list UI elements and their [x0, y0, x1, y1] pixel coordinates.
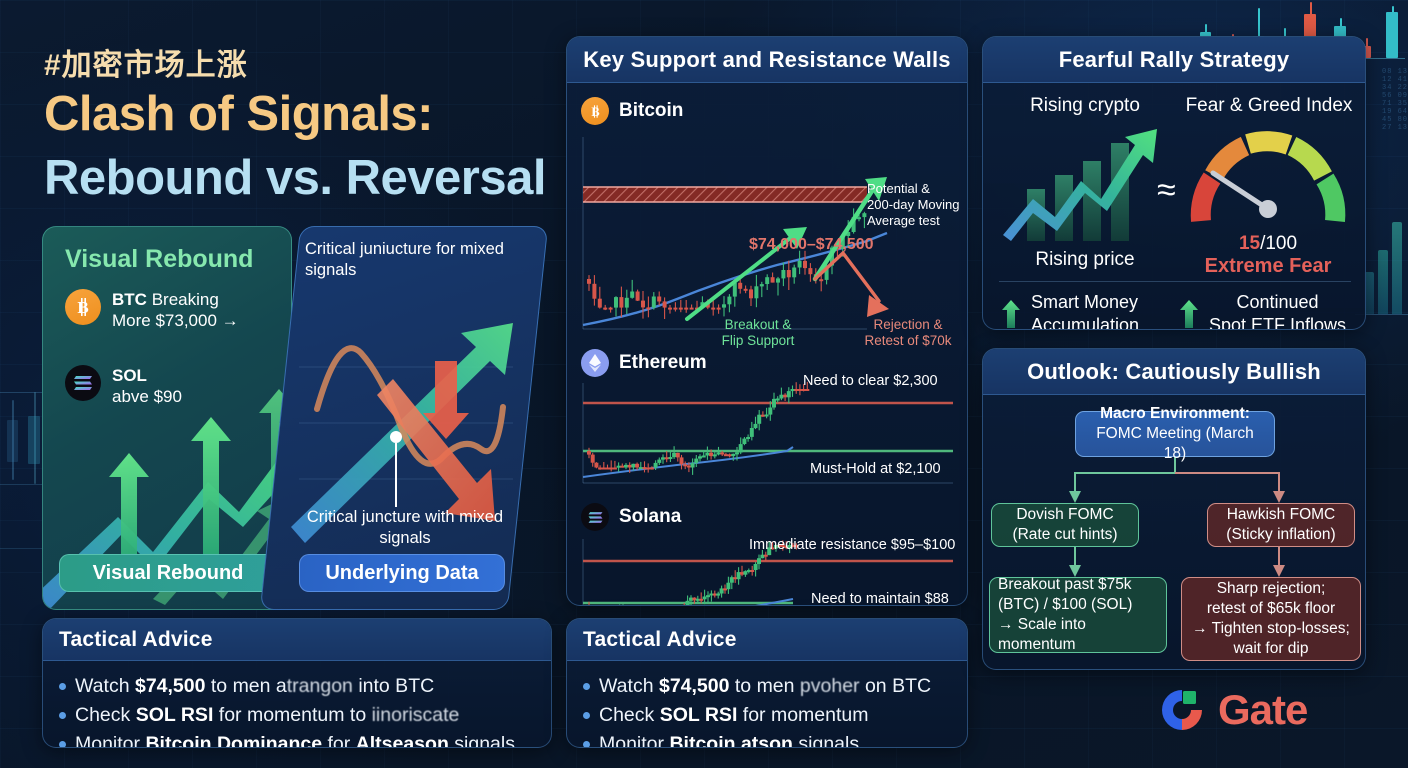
- macro-title: Macro Environment:: [1100, 404, 1250, 424]
- fear-greed-value: 15/100: [1179, 233, 1357, 255]
- advice-item: Monitor Bitcoin atson signals: [583, 731, 953, 748]
- bullet-line2: Spot ETF Inflows: [1209, 315, 1346, 330]
- gate-brand: Gate: [1158, 686, 1307, 734]
- flow-node-macro-environment: Macro Environment: FOMC Meeting (March 1…: [1075, 411, 1275, 457]
- fear-greed-gauge: [1179, 121, 1357, 231]
- rebound-coin-sol: SOL abve $90: [65, 365, 182, 407]
- bullet-dot-icon: [583, 712, 590, 719]
- dovish-result-l2: (BTC) / $100 (SOL): [998, 595, 1132, 615]
- rebound-coin-btc: B BTC Breaking More $73,000 →: [65, 289, 239, 331]
- advice-text: Monitor: [599, 733, 669, 748]
- bitcoin-annotation-right: Potential & 200-day Moving Average test: [867, 181, 967, 229]
- advice-text: signals: [793, 733, 859, 748]
- svg-text:B: B: [591, 105, 599, 119]
- dovish-result-l3: → Scale into momentum: [998, 615, 1158, 655]
- advice-text: on BTC: [860, 675, 932, 697]
- rebound-coin-sol-text: SOL abve $90: [112, 365, 182, 407]
- advice-bold: Bitcoin Dominance: [145, 733, 322, 748]
- advice-text: Check: [75, 704, 136, 726]
- fear-greed-state: Extreme Fear: [1179, 255, 1357, 278]
- dovish-result-l1: Breakout past $75k: [998, 575, 1132, 595]
- btc-symbol: BTC: [112, 290, 147, 309]
- advice-garbled: iinoriscate: [372, 704, 460, 726]
- dovish-title: Dovish FOMC: [1016, 505, 1113, 525]
- flow-node-hawkish-fomc: Hawkish FOMC (Sticky inflation): [1207, 503, 1355, 547]
- note-critical-juncture-top: Critical juniucture for mixed signals: [305, 239, 510, 281]
- hashtag-label: #加密市场上涨: [44, 40, 248, 84]
- flow-node-dovish-result: Breakout past $75k (BTC) / $100 (SOL) → …: [989, 577, 1167, 653]
- bullet-dot-icon: [59, 712, 66, 719]
- bitcoin-icon: B: [581, 97, 609, 125]
- dovish-sub: (Rate cut hints): [1012, 525, 1117, 545]
- advice-text: into BTC: [353, 675, 434, 697]
- solana-support-label: Need to maintain $88: [811, 591, 949, 606]
- btc-text1: Breaking: [152, 290, 219, 309]
- advice-item: Watch $74,500 to men pvoher on BTC: [583, 673, 953, 699]
- ethereum-support-label: Must-Hold at $2,100: [810, 461, 941, 477]
- advice-bold: Bitcoin atson: [669, 733, 793, 748]
- underlying-data-art: [281, 227, 529, 610]
- ethereum-label: Ethereum: [619, 352, 707, 374]
- macro-sub: FOMC Meeting (March 18): [1084, 424, 1266, 464]
- advice-text: for momentum to: [213, 704, 371, 726]
- chart-label-bitcoin: B Bitcoin: [581, 97, 683, 125]
- advice-bold: Altseason: [356, 733, 449, 748]
- hawkish-result-l4: wait for dip: [1234, 639, 1309, 659]
- fear-greed-index-label: Fear & Greed Index: [1179, 95, 1359, 117]
- rebound-coin-btc-text: BTC Breaking More $73,000 →: [112, 289, 239, 331]
- bitcoin-annotation-rejection: Rejection & Retest of $70k: [853, 317, 963, 349]
- flow-node-dovish-fomc: Dovish FOMC (Rate cut hints): [991, 503, 1139, 547]
- bitcoin-zone-label: $74,000–$74,500: [749, 237, 874, 253]
- svg-text:B: B: [77, 298, 88, 317]
- fear-bullet-etf-inflows: Continued Spot ETF Inflows: [1179, 291, 1346, 330]
- advice-bold: $74,500: [659, 675, 730, 697]
- ethereum-icon: [581, 349, 609, 377]
- solana-icon: [581, 503, 609, 531]
- underlying-data-card: Critical juniucture for mixed signals Cr…: [260, 226, 548, 610]
- bullet-line2: Accumulation: [1031, 315, 1139, 330]
- bullet-dot-icon: [583, 741, 590, 748]
- solana-icon: [65, 365, 101, 401]
- advice-bold: $74,500: [135, 675, 206, 697]
- gauge-value: 15: [1239, 233, 1260, 254]
- bullet-dot-icon: [59, 741, 66, 748]
- key-support-panel: Key Support and Resistance Walls B Bitco…: [566, 36, 968, 606]
- approx-symbol: ≈: [1157, 171, 1176, 210]
- page-title-line2: Rebound vs. Reversal: [44, 150, 546, 206]
- advice-item: Watch $74,500 to men atrangon into BTC: [59, 673, 537, 699]
- advice-item: Check SOL RSI for momentum: [583, 702, 953, 728]
- tactical-advice-left-title: Tactical Advice: [43, 619, 551, 661]
- gauge-max: /100: [1260, 233, 1297, 254]
- sol-symbol: SOL: [112, 366, 147, 385]
- rising-price-chart: [997, 123, 1172, 253]
- solana-label: Solana: [619, 506, 681, 528]
- up-arrow-icon: [1001, 298, 1021, 330]
- bullet-dot-icon: [59, 683, 66, 690]
- btc-text2: More $73,000 →: [112, 311, 239, 330]
- bitcoin-label: Bitcoin: [619, 100, 683, 122]
- advice-text: for: [322, 733, 356, 748]
- infographic-root: 08 13 12 41 34 22 56 09 71 35 19 64 45 8…: [0, 0, 1408, 768]
- up-arrow-icon: [1179, 298, 1199, 330]
- hawkish-result-l3: → Tighten stop-losses;: [1192, 619, 1350, 639]
- bullet-line1: Continued: [1236, 292, 1318, 312]
- hawkish-result-l2: retest of $65k floor: [1207, 599, 1335, 619]
- bitcoin-candlestick-chart: [567, 129, 968, 339]
- advice-bold: SOL RSI: [660, 704, 738, 726]
- advice-text: to men a: [205, 675, 286, 697]
- hawkish-sub: (Sticky inflation): [1226, 525, 1335, 545]
- advice-text: signals: [449, 733, 515, 748]
- fearful-rally-title: Fearful Rally Strategy: [983, 37, 1365, 83]
- hawkish-result-l1: Sharp rejection;: [1217, 579, 1326, 599]
- rebound-card-title: Visual Rebound: [65, 245, 253, 274]
- solana-resistance-label: Immediate resistance $95–$100: [749, 537, 955, 553]
- hawkish-title: Hawkish FOMC: [1227, 505, 1336, 525]
- advice-item: Monitor Bitcoin Dominance for Altseason …: [59, 731, 537, 748]
- advice-garbled: trangon: [287, 675, 353, 697]
- advice-item: Check SOL RSI for momentum to iinoriscat…: [59, 702, 537, 728]
- fearful-rally-panel: Fearful Rally Strategy Rising crypto Fea…: [982, 36, 1366, 330]
- chip-visual-rebound[interactable]: Visual Rebound: [59, 554, 277, 592]
- advice-bold: SOL RSI: [136, 704, 214, 726]
- chip-underlying-data[interactable]: Underlying Data: [299, 554, 505, 592]
- page-title-line1: Clash of Signals:: [44, 86, 433, 142]
- advice-text: Watch: [599, 675, 659, 697]
- bitcoin-icon: B: [65, 289, 101, 325]
- fear-bullet-smart-money: Smart Money Accumulation: [1001, 291, 1139, 330]
- bitcoin-annotation-breakout: Breakout & Flip Support: [703, 317, 813, 349]
- gate-wordmark: Gate: [1218, 686, 1307, 734]
- bullet-line1: Smart Money: [1031, 292, 1138, 312]
- rebound-arrows-art: [43, 227, 292, 610]
- flow-node-hawkish-result: Sharp rejection; retest of $65k floor → …: [1181, 577, 1361, 661]
- outlook-title: Outlook: Cautiously Bullish: [983, 349, 1365, 395]
- gate-logo-icon: [1158, 686, 1206, 734]
- ethereum-resistance-label: Need to clear $2,300: [803, 373, 938, 389]
- note-critical-juncture-bottom: Critical juncture with mixed signals: [289, 507, 521, 549]
- advice-text: Watch: [75, 675, 135, 697]
- visual-rebound-card: Visual Rebound B BTC Breaking More $73,0…: [42, 226, 292, 610]
- tactical-advice-right-title: Tactical Advice: [567, 619, 967, 661]
- advice-garbled: pvoher: [800, 675, 860, 697]
- rising-crypto-label: Rising crypto: [995, 95, 1175, 117]
- bullet-dot-icon: [583, 683, 590, 690]
- chart-label-ethereum: Ethereum: [581, 349, 707, 377]
- advice-text: Check: [599, 704, 660, 726]
- tactical-advice-right-panel: Tactical Advice Watch $74,500 to men pvo…: [566, 618, 968, 748]
- advice-text: to men: [729, 675, 799, 697]
- advice-text: Monitor: [75, 733, 145, 748]
- key-support-title: Key Support and Resistance Walls: [567, 37, 967, 83]
- fear-panel-divider: [999, 281, 1351, 282]
- rising-price-label: Rising price: [995, 249, 1175, 271]
- tactical-advice-left-panel: Tactical Advice Watch $74,500 to men atr…: [42, 618, 552, 748]
- sol-text2: abve $90: [112, 387, 182, 406]
- advice-text: for momentum: [737, 704, 868, 726]
- outlook-panel: Outlook: Cautiously Bullish Macro Enviro…: [982, 348, 1366, 670]
- chart-label-solana: Solana: [581, 503, 681, 531]
